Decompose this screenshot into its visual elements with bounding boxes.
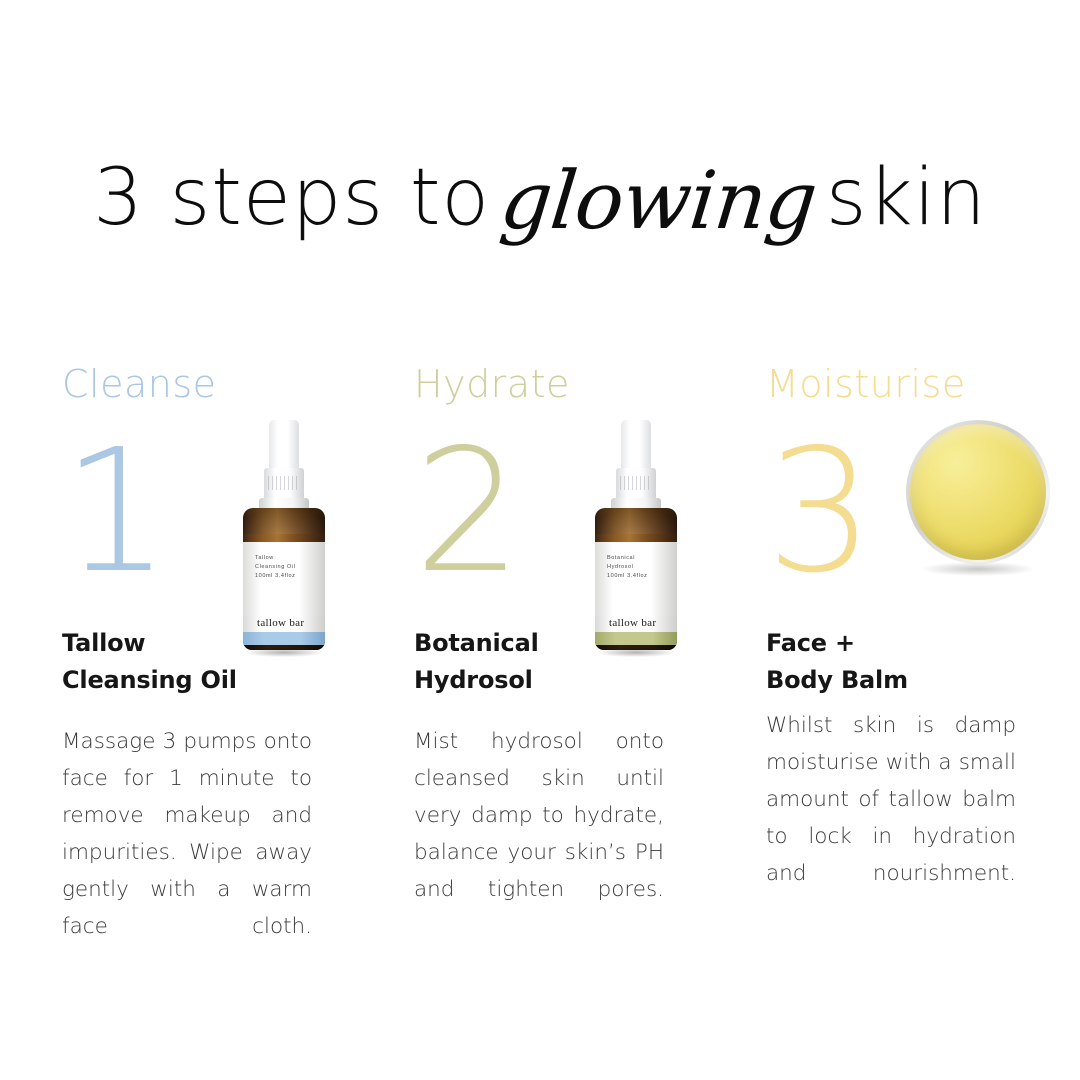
bottle-overcap-icon: [621, 420, 651, 472]
step-label-hydrate: Hydrate: [414, 365, 714, 413]
bottle-shadow-1: [245, 648, 323, 657]
bottle-logo-band-1: tallow bar: [243, 616, 325, 632]
spray-bottle-1: Tallow Cleansing Oil 100ml 3.4floz tallo…: [237, 420, 347, 650]
step-label-moisturise: Moisturise: [766, 365, 1066, 413]
brand-wordmark-2: tallow bar: [609, 617, 656, 629]
bottle-glass-body-1: Tallow Cleansing Oil 100ml 3.4floz tallo…: [243, 508, 325, 650]
step-column-moisturise: Moisturise 3 Face + Body Balm Whilst ski…: [766, 365, 1066, 965]
product-name-cleansing-oil: Tallow Cleansing Oil: [62, 625, 237, 699]
product-image-hydrosol: Botanical Hydrosol 100ml 3.4floz tallow …: [589, 420, 699, 650]
bottle-logo-band-2: tallow bar: [595, 616, 677, 632]
bottle-glass-body-2: Botanical Hydrosol 100ml 3.4floz tallow …: [595, 508, 677, 650]
title-part-1: 3 steps to: [93, 153, 490, 243]
bottle-stripe-2: [595, 632, 677, 645]
spray-bottle-2: Botanical Hydrosol 100ml 3.4floz tallow …: [589, 420, 699, 650]
title-part-2: skin: [826, 153, 987, 243]
step-numeral-2: 2: [414, 427, 518, 597]
product-description-cleansing-oil: Massage 3 pumps onto face for 1 minute t…: [62, 723, 312, 982]
steps-container: Cleanse 1 Tallow Cleansing Oil 100ml 3.4…: [0, 365, 1080, 965]
product-name-body-balm: Face + Body Balm: [766, 625, 908, 699]
bottle-shoulder: [243, 508, 325, 534]
bottle-label-2: Botanical Hydrosol 100ml 3.4floz: [595, 542, 677, 616]
bottle-label-1: Tallow Cleansing Oil 100ml 3.4floz: [243, 542, 325, 616]
bottle-overcap-icon: [269, 420, 299, 472]
product-description-body-balm: Whilst skin is damp moisturise with a sm…: [766, 707, 1016, 929]
brand-wordmark-1: tallow bar: [257, 617, 304, 629]
balm-surface: [910, 424, 1046, 560]
product-description-hydrosol: Mist hydrosol onto cleansed skin until v…: [414, 723, 664, 945]
bottle-shadow-2: [597, 648, 675, 657]
product-image-cleansing-oil: Tallow Cleansing Oil 100ml 3.4floz tallo…: [237, 420, 347, 650]
step-numeral-3: 3: [766, 427, 870, 597]
step-numeral-1: 1: [62, 427, 166, 597]
title-script-word: glowing: [490, 154, 827, 247]
step-column-cleanse: Cleanse 1 Tallow Cleansing Oil 100ml 3.4…: [62, 365, 362, 965]
bottle-shoulder: [595, 508, 677, 534]
balm-tin-shadow: [922, 562, 1034, 576]
step-label-cleanse: Cleanse: [62, 365, 362, 413]
step-column-hydrate: Hydrate 2 Botanical Hydrosol 100ml 3.4fl…: [414, 365, 714, 965]
bottle-pump-collar-icon: [264, 468, 304, 500]
bottle-label-text-1: Tallow Cleansing Oil 100ml 3.4floz: [255, 554, 296, 581]
product-image-body-balm: [906, 420, 1056, 580]
product-name-hydrosol: Botanical Hydrosol: [414, 625, 539, 699]
page-title: 3 steps to glowing skin: [0, 150, 1080, 243]
bottle-label-text-2: Botanical Hydrosol 100ml 3.4floz: [607, 554, 648, 581]
bottle-stripe-1: [243, 632, 325, 645]
balm-tin: [906, 420, 1056, 580]
bottle-pump-collar-icon: [616, 468, 656, 500]
